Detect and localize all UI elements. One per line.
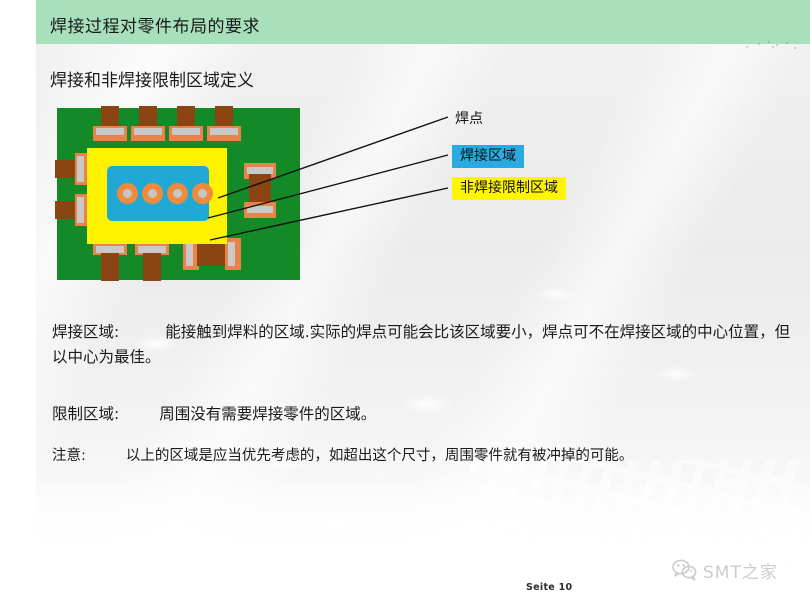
- component-body-top-1: [101, 106, 119, 128]
- component-terminal-top-2: [134, 128, 162, 135]
- solder-pad-3: [167, 183, 188, 204]
- component-terminal-left-2: [77, 197, 84, 223]
- paragraph-keepout-area: 限制区域:周围没有需要焊接零件的区域。: [52, 402, 792, 427]
- solder-pad-2: [142, 183, 163, 204]
- paragraph-2-term: 限制区域:: [52, 405, 119, 423]
- component-body-top-4: [215, 106, 233, 128]
- paragraph-2-text: 周围没有需要焊接零件的区域。: [159, 405, 376, 423]
- page-number-label: Seite 10: [526, 582, 572, 593]
- component-terminal-bottom-1: [96, 246, 124, 253]
- component-body-left-2: [55, 201, 77, 219]
- component-terminal-right-top: [247, 167, 273, 174]
- page-title: 焊接过程对零件布局的要求: [50, 12, 260, 37]
- paragraph-solder-area: 焊接区域:能接触到焊料的区域.实际的焊点可能会比该区域要小，焊点可不在焊接区域的…: [52, 320, 792, 370]
- slide-canvas: 焊接过程对零件布局的要求 焊接和非焊接限制区域定义: [0, 0, 810, 605]
- paragraph-note: 注意:以上的区域是应当优先考虑的，如超出这个尺寸，周围零件就有被冲掉的可能。: [52, 444, 792, 469]
- component-terminal-bottom-3-left: [186, 242, 193, 266]
- component-body-left-1: [55, 160, 77, 178]
- paragraph-3-term: 注意:: [52, 448, 86, 464]
- header-decor-dots: [742, 40, 802, 54]
- component-terminal-bottom-2: [138, 246, 166, 253]
- callout-solder-point: 焊点: [455, 110, 483, 128]
- paragraph-1-text: 能接触到焊料的区域.实际的焊点可能会比该区域要小，焊点可不在焊接区域的中心位置，…: [52, 323, 790, 366]
- watermark-label: SMT之家: [703, 558, 778, 583]
- solder-pad-1: [117, 183, 138, 204]
- component-body-top-3: [177, 106, 195, 128]
- solder-pad-4: [192, 183, 213, 204]
- component-terminal-right-bottom: [247, 206, 273, 213]
- component-body-bottom-3: [197, 242, 227, 266]
- callout-keepout-area: 非焊接限制区域: [452, 177, 566, 200]
- callout-solder-area: 焊接区域: [452, 145, 524, 168]
- wechat-icon: [672, 559, 698, 581]
- component-body-top-2: [139, 106, 157, 128]
- component-terminal-top-1: [96, 128, 124, 135]
- pcb-layout-diagram: [57, 108, 300, 280]
- section-subtitle: 焊接和非焊接限制区域定义: [50, 66, 254, 91]
- paragraph-1-term: 焊接区域:: [52, 323, 119, 341]
- component-terminal-top-3: [172, 128, 200, 135]
- component-terminal-bottom-3-right: [228, 242, 235, 266]
- background-bottom-fade: [36, 470, 810, 565]
- component-terminal-left-1: [77, 156, 84, 182]
- paragraph-3-text: 以上的区域是应当优先考虑的，如超出这个尺寸，周围零件就有被冲掉的可能。: [126, 448, 634, 464]
- component-body-bottom-1: [101, 253, 119, 281]
- watermark: SMT之家: [672, 556, 802, 584]
- component-terminal-top-4: [210, 128, 238, 135]
- component-body-bottom-2: [143, 253, 161, 281]
